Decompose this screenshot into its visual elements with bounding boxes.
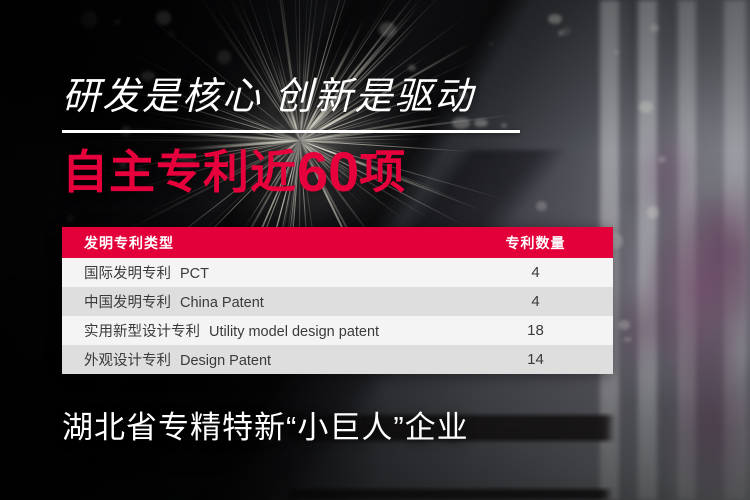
patent-banner: 研发是核心 创新是驱动 自主专利近60项 发明专利类型 专利数量 国际发明专利P… — [0, 0, 750, 500]
cell-patent-type-cn: 国际发明专利 — [84, 266, 171, 282]
headline-suffix: 项 — [359, 146, 406, 198]
cell-patent-type: 中国发明专利China Patent — [62, 291, 458, 312]
cell-patent-count: 4 — [458, 293, 613, 310]
cell-patent-type: 国际发明专利PCT — [62, 262, 458, 283]
headline-number: 60 — [297, 140, 359, 203]
table-header-row: 发明专利类型 专利数量 — [62, 227, 613, 258]
table-row: 外观设计专利Design Patent14 — [62, 345, 613, 374]
table-row: 中国发明专利China Patent4 — [62, 287, 613, 316]
table-row: 国际发明专利PCT4 — [62, 258, 613, 287]
table-body: 国际发明专利PCT4中国发明专利China Patent4实用新型设计专利Uti… — [62, 258, 613, 374]
cell-patent-type-en: China Patent — [180, 295, 264, 311]
headline-prefix: 自主专利近 — [62, 146, 297, 198]
cell-patent-type-cn: 实用新型设计专利 — [84, 324, 200, 340]
table-row: 实用新型设计专利Utility model design patent18 — [62, 316, 613, 345]
banner-content: 研发是核心 创新是驱动 自主专利近60项 发明专利类型 专利数量 国际发明专利P… — [0, 0, 750, 500]
headline-primary: 研发是核心 创新是驱动 — [62, 78, 475, 116]
cell-patent-type-en: Utility model design patent — [209, 324, 379, 340]
cell-patent-type-en: PCT — [180, 266, 209, 282]
cell-patent-type-en: Design Patent — [180, 353, 271, 369]
headline-secondary: 自主专利近60项 — [62, 144, 406, 200]
cell-patent-count: 18 — [458, 322, 613, 339]
headline-divider — [62, 130, 520, 133]
cell-patent-count: 14 — [458, 351, 613, 368]
cell-patent-type-cn: 中国发明专利 — [84, 295, 171, 311]
column-header-count: 专利数量 — [458, 233, 613, 253]
cell-patent-type: 外观设计专利Design Patent — [62, 349, 458, 370]
column-header-type: 发明专利类型 — [62, 233, 458, 253]
cell-patent-type: 实用新型设计专利Utility model design patent — [62, 320, 458, 341]
patent-table: 发明专利类型 专利数量 国际发明专利PCT4中国发明专利China Patent… — [62, 227, 613, 374]
cell-patent-count: 4 — [458, 264, 613, 281]
footer-caption: 湖北省专精特新“小巨人”企业 — [62, 402, 469, 447]
cell-patent-type-cn: 外观设计专利 — [84, 353, 171, 369]
